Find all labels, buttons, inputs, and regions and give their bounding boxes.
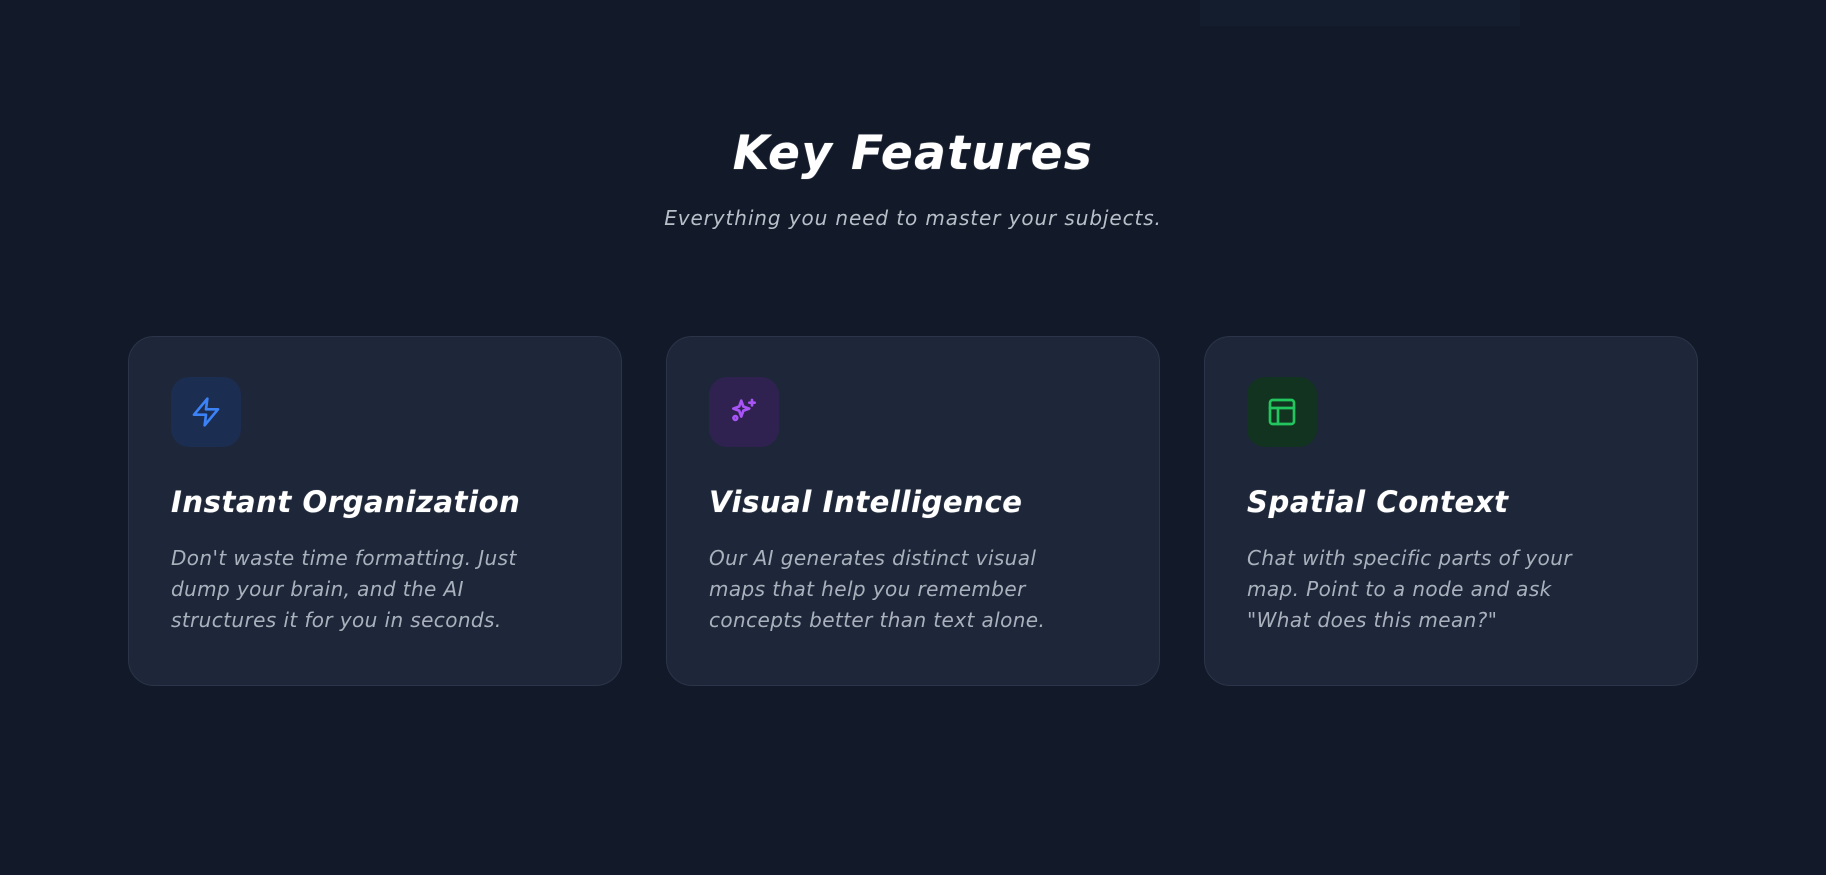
zap-icon-tile [171, 377, 241, 447]
feature-card-list: Instant Organization Don't waste time fo… [0, 336, 1826, 686]
zap-icon [190, 396, 222, 428]
features-section: Key Features Everything you need to mast… [0, 0, 1826, 875]
sparkles-icon [728, 396, 760, 428]
feature-card-description: Our AI generates distinct visual maps th… [709, 543, 1061, 636]
sparkles-icon-tile [709, 377, 779, 447]
feature-card-spatial-context[interactable]: Spatial Context Chat with specific parts… [1204, 336, 1698, 686]
layout-panel-icon-tile [1247, 377, 1317, 447]
feature-card-title: Instant Organization [171, 485, 579, 519]
section-subtitle: Everything you need to master your subje… [0, 206, 1826, 230]
feature-card-title: Spatial Context [1247, 485, 1655, 519]
feature-card-visual-intelligence[interactable]: Visual Intelligence Our AI generates dis… [666, 336, 1160, 686]
feature-card-title: Visual Intelligence [709, 485, 1117, 519]
layout-panel-icon [1266, 396, 1298, 428]
feature-card-instant-organization[interactable]: Instant Organization Don't waste time fo… [128, 336, 622, 686]
page-title: Key Features [0, 128, 1826, 180]
section-header: Key Features Everything you need to mast… [0, 0, 1826, 230]
feature-card-description: Don't waste time formatting. Just dump y… [171, 543, 523, 636]
feature-card-description: Chat with specific parts of your map. Po… [1247, 543, 1599, 636]
